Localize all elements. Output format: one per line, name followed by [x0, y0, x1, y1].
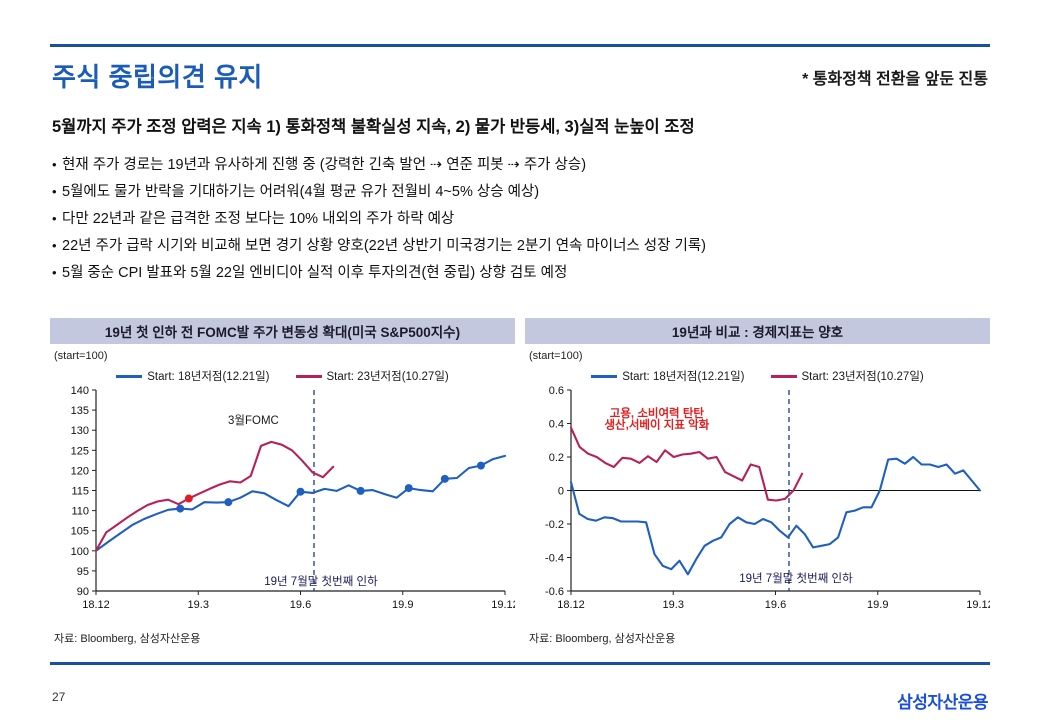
chart-panel-right: 19년과 비교 : 경제지표는 양호 (start=100) Start: 18… — [525, 318, 990, 648]
chart-unit-note-right: (start=100) — [529, 350, 583, 362]
bullet-dot-icon: • — [52, 264, 62, 281]
y-tick-label: 100 — [71, 546, 89, 558]
y-tick-label: -0.4 — [545, 553, 564, 565]
data-point-marker — [297, 488, 305, 496]
y-tick-label: 130 — [71, 425, 89, 437]
top-divider-rule — [50, 44, 990, 47]
bullet-dot-icon: • — [52, 237, 62, 254]
chart-source-left: 자료: Bloomberg, 삼성자산운용 — [54, 630, 200, 646]
legend-swatch-blue — [116, 375, 142, 378]
y-tick-label: 115 — [71, 486, 89, 498]
y-tick-label: 110 — [71, 506, 89, 518]
bullet-text: 5월에도 물가 반락을 기대하기는 어려워(4월 평균 유가 전월비 4~5% … — [62, 184, 539, 201]
data-point-marker — [441, 475, 449, 483]
page-subtitle: 5월까지 주가 조정 압력은 지속 1) 통화정책 불확실성 지속, 2) 물가… — [52, 113, 695, 137]
chart-plot-right: -0.6-0.4-0.200.20.40.618.1219.319.619.91… — [525, 382, 990, 627]
y-tick-label: 0 — [558, 486, 564, 498]
x-tick-label: 19.3 — [663, 599, 684, 611]
y-tick-label: -0.6 — [545, 586, 564, 598]
chart-source-right: 자료: Bloomberg, 삼성자산운용 — [529, 630, 675, 646]
slide-root: 주식 중립의견 유지 * 통화정책 전환을 앞둔 진통 5월까지 주가 조정 압… — [0, 0, 1040, 720]
line-chart-svg-right: -0.6-0.4-0.200.20.40.618.1219.319.619.91… — [525, 382, 990, 627]
x-tick-label: 18.12 — [82, 599, 110, 611]
bullet-dot-icon: • — [52, 183, 62, 200]
page-number: 27 — [52, 690, 65, 704]
x-tick-label: 19.9 — [392, 599, 413, 611]
chart-annotation: 3월FOMC — [228, 414, 279, 427]
bullet-item: •현재 주가 경로는 19년과 유사하게 진행 중 (강력한 긴축 발언 ⇢ 연… — [52, 156, 1002, 174]
x-tick-label: 19.12 — [966, 599, 990, 611]
legend-swatch-red — [296, 375, 322, 378]
y-tick-label: 0.6 — [549, 385, 564, 397]
y-tick-label: 135 — [71, 405, 89, 417]
page-title: 주식 중립의견 유지 — [52, 57, 263, 94]
bullet-item: •다만 22년과 같은 급격한 조정 보다는 10% 내외의 주가 하락 예상 — [52, 210, 1002, 228]
data-point-marker — [477, 462, 485, 470]
data-point-marker — [405, 484, 413, 492]
bottom-divider-rule — [50, 662, 990, 665]
legend-swatch-blue — [591, 375, 617, 378]
chart-annotation: 19년 7월말 첫번째 인하 — [264, 574, 378, 588]
bullet-text: 22년 주가 급락 시기와 비교해 보면 경기 상황 양호(22년 상반기 미국… — [62, 238, 706, 255]
y-tick-label: 105 — [71, 526, 89, 538]
x-tick-label: 19.3 — [188, 599, 209, 611]
x-tick-label: 19.12 — [491, 599, 515, 611]
y-tick-label: -0.2 — [545, 519, 564, 531]
data-point-marker — [185, 495, 193, 503]
bullet-dot-icon: • — [52, 156, 62, 173]
x-tick-label: 19.6 — [765, 599, 786, 611]
chart-title-left: 19년 첫 인하 전 FOMC발 주가 변동성 확대(미국 S&P500지수) — [50, 318, 515, 344]
brand-logo: 삼성자산운용 — [897, 688, 988, 713]
y-tick-label: 0.2 — [549, 452, 564, 464]
series-line — [96, 456, 505, 551]
series-line — [571, 457, 980, 574]
data-point-marker — [176, 505, 184, 513]
chart-plot-left: 909510010511011512012513013514018.1219.3… — [50, 382, 515, 627]
bullet-list: •현재 주가 경로는 19년과 유사하게 진행 중 (강력한 긴축 발언 ⇢ 연… — [52, 156, 1002, 291]
y-tick-label: 120 — [71, 465, 89, 477]
x-tick-label: 19.6 — [290, 599, 311, 611]
y-tick-label: 90 — [77, 586, 89, 598]
bullet-text: 다만 22년과 같은 급격한 조정 보다는 10% 내외의 주가 하락 예상 — [62, 211, 454, 228]
x-tick-label: 19.9 — [867, 599, 888, 611]
bullet-text: 현재 주가 경로는 19년과 유사하게 진행 중 (강력한 긴축 발언 ⇢ 연준… — [62, 157, 586, 174]
y-tick-label: 125 — [71, 445, 89, 457]
x-tick-label: 18.12 — [557, 599, 585, 611]
chart-unit-note-left: (start=100) — [54, 350, 108, 362]
y-tick-label: 140 — [71, 385, 89, 397]
chart-annotation: 생산,서베이 지표 악화 — [604, 418, 709, 432]
chart-annotation: 19년 7월말 첫번째 인하 — [739, 571, 853, 585]
data-point-marker — [224, 498, 232, 506]
chart-title-right: 19년과 비교 : 경제지표는 양호 — [525, 318, 990, 344]
legend-swatch-red — [771, 375, 797, 378]
data-point-marker — [357, 487, 365, 495]
bullet-item: •5월 중순 CPI 발표와 5월 22일 엔비디아 실적 이후 투자의견(현 … — [52, 264, 1002, 282]
y-tick-label: 95 — [77, 566, 89, 578]
bullet-dot-icon: • — [52, 210, 62, 227]
series-line — [571, 428, 802, 501]
bullet-item: •22년 주가 급락 시기와 비교해 보면 경기 상황 양호(22년 상반기 미… — [52, 237, 1002, 255]
chart-panel-left: 19년 첫 인하 전 FOMC발 주가 변동성 확대(미국 S&P500지수) … — [50, 318, 515, 648]
chart-annotation: 고용, 소비여력 탄탄 — [610, 406, 705, 420]
y-tick-label: 0.4 — [549, 419, 564, 431]
bullet-text: 5월 중순 CPI 발표와 5월 22일 엔비디아 실적 이후 투자의견(현 중… — [62, 265, 567, 282]
bullet-item: •5월에도 물가 반락을 기대하기는 어려워(4월 평균 유가 전월비 4~5%… — [52, 183, 1002, 201]
header-note: * 통화정책 전환을 앞둔 진통 — [802, 65, 988, 89]
line-chart-svg-left: 909510010511011512012513013514018.1219.3… — [50, 382, 515, 627]
